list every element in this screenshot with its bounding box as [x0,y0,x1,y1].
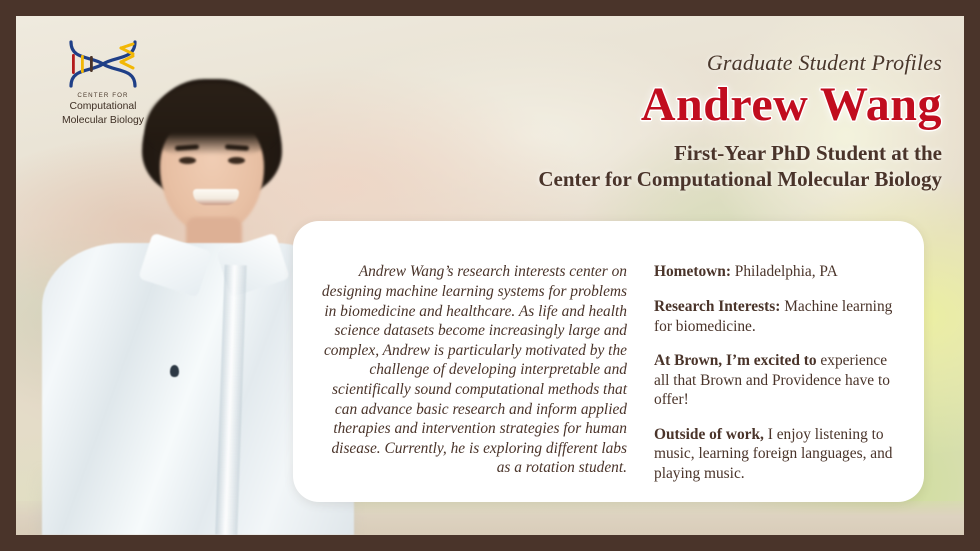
bio-paragraph: Andrew Wang’s research interests center … [321,262,627,478]
series-eyebrow: Graduate Student Profiles [302,50,942,76]
portrait-eye-right [228,157,245,164]
fact-at-brown-label: At Brown, I’m excited to [654,352,817,369]
portrait-smile [193,189,239,205]
logo-name-line-2: Molecular Biology [40,114,166,127]
portrait-eye-left [179,157,196,164]
fact-research-interests-label: Research Interests: [654,298,780,315]
portrait-shirt-emblem [170,365,179,377]
fact-research-interests: Research Interests: Machine learning for… [654,297,898,336]
fact-at-brown: At Brown, I’m excited to experience all … [654,351,898,409]
logo-center-for-label: CENTER FOR [40,92,166,99]
bio-column: Andrew Wang’s research interests center … [293,221,641,502]
profile-poster: CENTER FOR Computational Molecular Biolo… [0,0,980,551]
logo-name-line-1: Computational [40,100,166,113]
fact-outside-of-work: Outside of work, I enjoy listening to mu… [654,425,898,483]
fact-hometown: Hometown: Philadelphia, PA [654,262,898,281]
dna-helix-icon [40,38,166,90]
fact-hometown-value: Philadelphia, PA [731,263,838,280]
fact-hometown-label: Hometown: [654,263,731,280]
page-title: Andrew Wang [302,79,942,131]
fact-outside-of-work-label: Outside of work, [654,426,764,443]
role-line-2: Center for Computational Molecular Biolo… [302,166,942,192]
poster-header: Graduate Student Profiles Andrew Wang Fi… [302,50,942,192]
role-line-1: First-Year PhD Student at the [302,140,942,166]
ccmb-logo: CENTER FOR Computational Molecular Biolo… [40,38,166,144]
facts-column: Hometown: Philadelphia, PA Research Inte… [641,221,924,502]
poster-frame: CENTER FOR Computational Molecular Biolo… [16,16,964,535]
content-card: Andrew Wang’s research interests center … [293,221,924,502]
